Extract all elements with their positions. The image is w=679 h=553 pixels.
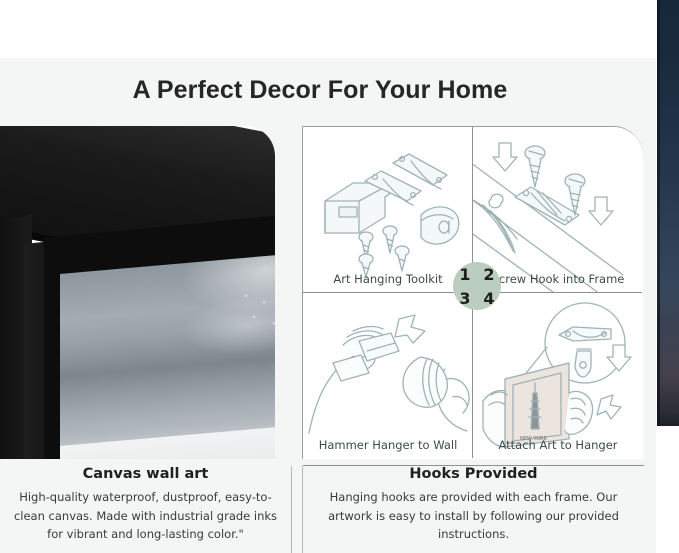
caption-right-heading: Hooks Provided — [303, 466, 644, 482]
instruction-label-1: Art Hanging Toolkit — [303, 272, 473, 286]
caption-right-body: Hanging hooks are provided with each fra… — [303, 488, 644, 544]
step-number-badge: 1 2 3 4 — [453, 262, 501, 310]
instruction-cell-4: NEW YORK Attach Art to Hanger — [473, 293, 643, 459]
caption-left-body: High-quality waterproof, dustproof, easy… — [0, 488, 291, 544]
caption-left-heading: Canvas wall art — [0, 466, 291, 482]
caption-divider-left — [291, 466, 292, 553]
toolkit-icon — [303, 127, 473, 293]
caption-left: Canvas wall art High-quality waterproof,… — [0, 466, 291, 544]
product-listing-image: A Perfect Decor For Your Home — [0, 0, 679, 553]
captions-row: Canvas wall art High-quality waterproof,… — [0, 466, 656, 553]
product-photo — [0, 126, 275, 459]
badge-number-4: 4 — [477, 286, 501, 310]
badge-number-2: 2 — [477, 262, 501, 286]
attach-art-icon: NEW YORK — [473, 293, 643, 459]
caption-right: Hooks Provided Hanging hooks are provide… — [303, 466, 644, 544]
adjacent-image-sliver — [657, 0, 679, 426]
instruction-label-3: Hammer Hanger to Wall — [303, 438, 473, 452]
caption-divider-right — [302, 466, 303, 553]
canvas-artwork — [60, 253, 275, 452]
artwork-texture — [236, 283, 275, 344]
adjacent-image-edge — [657, 0, 660, 426]
badge-number-1: 1 — [453, 262, 477, 286]
instruction-cell-1: Art Hanging Toolkit — [303, 127, 473, 293]
instruction-label-4: Attach Art to Hanger — [473, 438, 643, 452]
page-title: A Perfect Decor For Your Home — [0, 76, 640, 105]
badge-number-3: 3 — [453, 286, 477, 310]
hammer-hanger-icon — [303, 293, 473, 459]
instruction-cell-3: Hammer Hanger to Wall — [303, 293, 473, 459]
